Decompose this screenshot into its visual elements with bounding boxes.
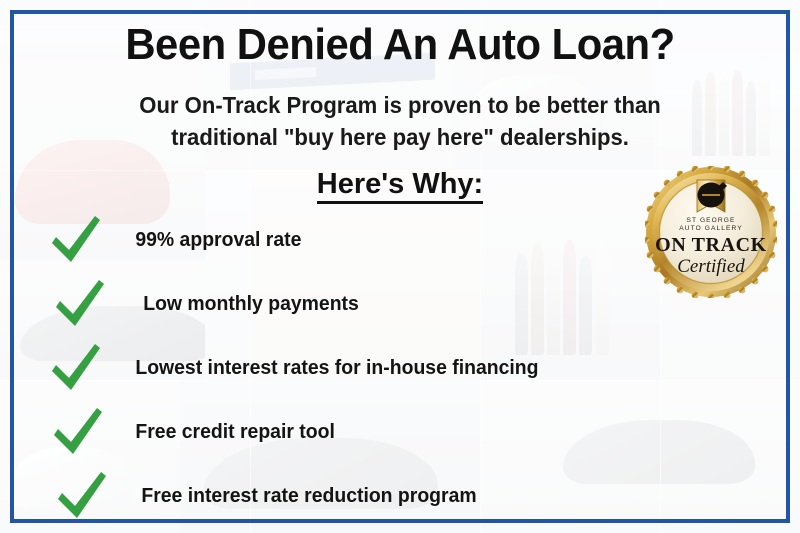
check-icon xyxy=(54,469,110,523)
list-item-label: Lowest interest rates for in-house finan… xyxy=(114,357,538,380)
seal-status-label: Certified xyxy=(677,256,745,277)
subheadline: Our On-Track Program is proven to be bet… xyxy=(83,90,717,153)
list-item-label: 99% approval rate xyxy=(114,229,301,252)
list-item: Lowest interest rates for in-house finan… xyxy=(48,336,668,400)
seal-dealer-line-1: ST GEORGE xyxy=(687,217,736,224)
section-title-text: Here's Why: xyxy=(317,168,483,204)
seal-dealer-line-2: AUTO GALLERY xyxy=(679,225,743,232)
on-track-certified-seal: ST GEORGE AUTO GALLERY ON TRACK Certifie… xyxy=(645,166,777,298)
auto-loan-promo-banner: ST GEORGE AUTO ST GEORGE AUTO Been Denie… xyxy=(0,0,800,533)
subheadline-line-1: Our On-Track Program is proven to be bet… xyxy=(83,90,717,122)
page-title: Been Denied An Auto Loan? xyxy=(20,22,780,68)
check-icon xyxy=(48,213,104,267)
check-icon xyxy=(50,405,106,459)
list-item: Free credit repair tool xyxy=(48,400,668,464)
subheadline-line-2: traditional "buy here pay here" dealersh… xyxy=(83,122,717,154)
list-item-label: Free interest rate reduction program xyxy=(120,485,477,508)
list-item: Free interest rate reduction program xyxy=(48,464,668,528)
list-item-label: Low monthly payments xyxy=(118,293,359,316)
benefits-list: 99% approval rate Low monthly payments L… xyxy=(48,208,668,528)
list-item: Low monthly payments xyxy=(48,272,668,336)
check-icon xyxy=(52,277,108,331)
seal-program-label: ON TRACK xyxy=(655,234,767,256)
list-item: 99% approval rate xyxy=(48,208,668,272)
check-icon xyxy=(48,341,104,395)
banner-content: Been Denied An Auto Loan? Our On-Track P… xyxy=(0,0,800,533)
seal-emblem-banner xyxy=(697,180,727,212)
list-item-label: Free credit repair tool xyxy=(116,421,335,444)
